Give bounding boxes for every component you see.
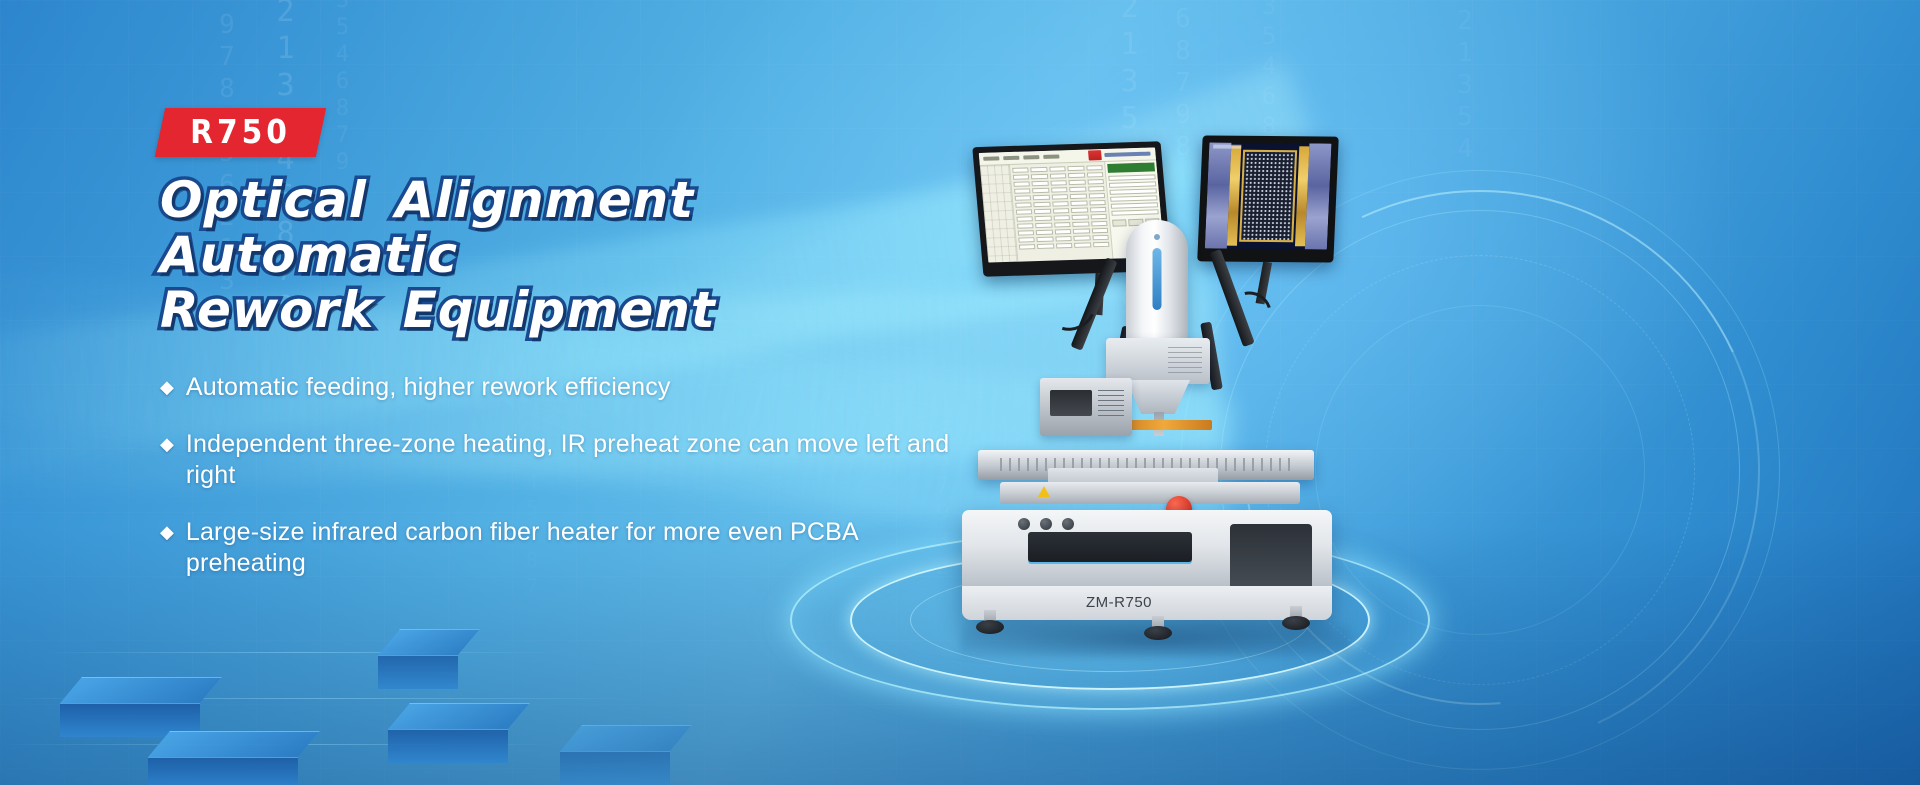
list-item: ◆ Automatic feeding, higher rework effic…	[160, 372, 950, 403]
machine-foot	[1144, 626, 1172, 640]
feature-text: Automatic feeding, higher rework efficie…	[186, 372, 671, 403]
feature-list: ◆ Automatic feeding, higher rework effic…	[160, 372, 960, 579]
diamond-bullet-icon: ◆	[160, 517, 174, 547]
machine-foot	[1282, 616, 1310, 630]
banner-content: R750 Optical Alignment AutomaticRework E…	[160, 108, 960, 605]
model-badge: R750	[155, 108, 326, 157]
page-title: Optical Alignment AutomaticRework Equipm…	[160, 173, 960, 338]
bga-inspection-screen	[1205, 143, 1332, 250]
title-line-2: Rework Equipment	[160, 281, 716, 339]
diamond-bullet-icon: ◆	[160, 429, 174, 459]
title-line-1: Optical Alignment Automatic	[160, 171, 694, 284]
machine-base: ZM-R750	[962, 510, 1332, 620]
product-banner: 213546879 9784562130 3546879 213546879 6…	[0, 0, 1920, 785]
list-item: ◆ Large-size infrared carbon fiber heate…	[160, 517, 950, 579]
feature-text: Independent three-zone heating, IR prehe…	[186, 429, 950, 491]
bga-ball-grid	[1239, 150, 1297, 242]
feeder-module	[1040, 378, 1132, 436]
model-badge-label: R750	[190, 115, 291, 149]
diamond-bullet-icon: ◆	[160, 372, 174, 402]
background-code-column: 21354	[1450, 6, 1480, 166]
feature-text: Large-size infrared carbon fiber heater …	[186, 517, 950, 579]
product-image-rework-station: ZM-R750	[930, 130, 1390, 600]
vertical-column	[1126, 220, 1188, 350]
right-monitor	[1197, 135, 1339, 262]
software-data-table	[1010, 162, 1113, 262]
machine-foot	[976, 620, 1004, 634]
list-item: ◆ Independent three-zone heating, IR pre…	[160, 429, 950, 491]
control-keypad[interactable]	[1028, 532, 1192, 562]
machine-model-label: ZM-R750	[1086, 594, 1152, 611]
control-knobs[interactable]	[1018, 518, 1074, 530]
nozzle-funnel	[1126, 380, 1190, 414]
software-logo-icon	[1088, 150, 1102, 160]
